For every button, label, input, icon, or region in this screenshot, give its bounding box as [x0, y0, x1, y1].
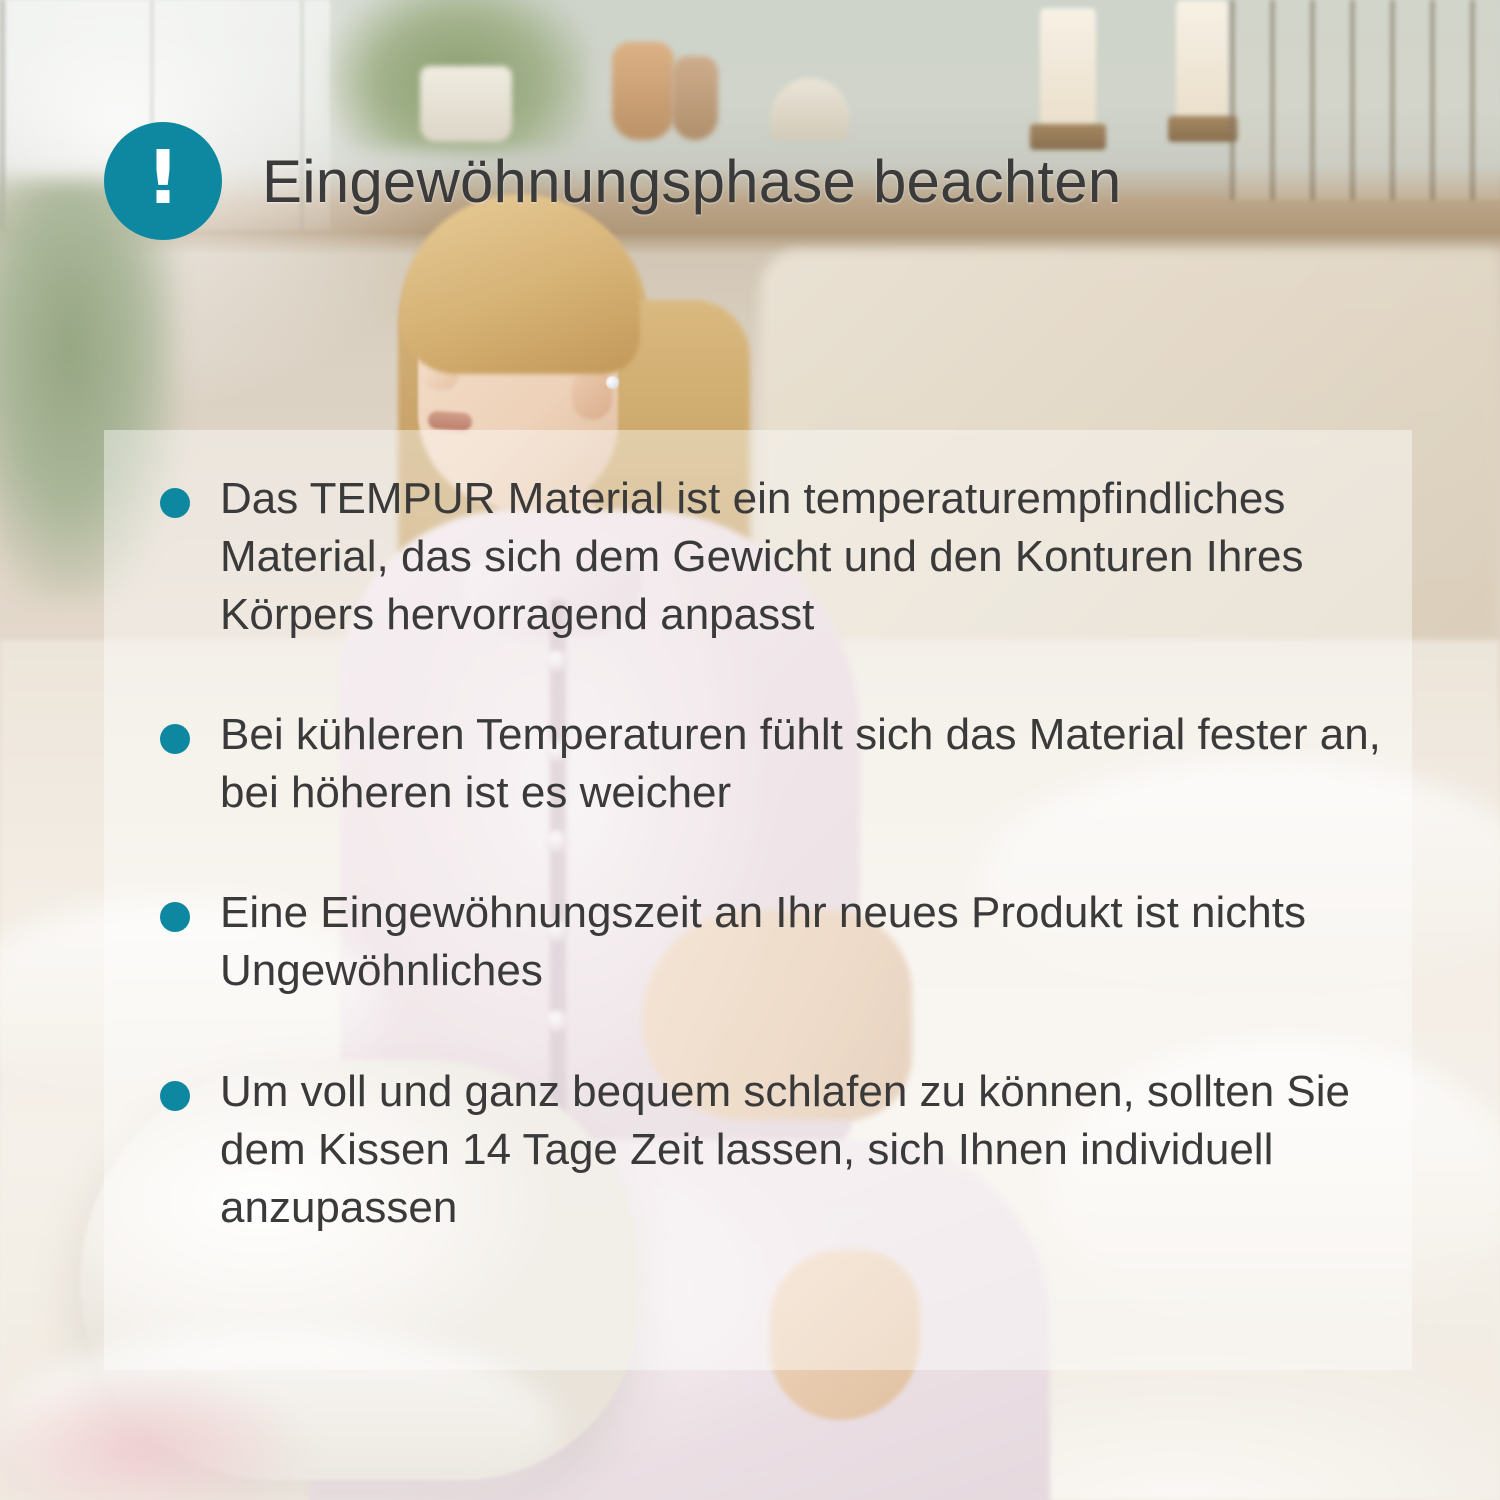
- list-item: Das TEMPUR Material ist ein temperaturem…: [160, 470, 1390, 644]
- bullet-dot-icon: [160, 724, 190, 754]
- product-info-poster: ! Eingewöhnungsphase beachten Das TEMPUR…: [0, 0, 1500, 1500]
- earring: [606, 376, 619, 389]
- exclamation-mark-icon: !: [104, 122, 222, 240]
- list-item: Bei kühleren Temperaturen fühlt sich das…: [160, 706, 1390, 822]
- list-item-label: Bei kühleren Temperaturen fühlt sich das…: [220, 706, 1390, 822]
- bullet-dot-icon: [160, 488, 190, 518]
- headboard-slats: [1230, 0, 1500, 200]
- list-item: Eine Eingewöhnungszeit an Ihr neues Prod…: [160, 884, 1390, 1000]
- candle-icon: [1040, 8, 1096, 128]
- list-item-label: Um voll und ganz bequem schlafen zu könn…: [220, 1063, 1390, 1237]
- bullet-dot-icon: [160, 1081, 190, 1111]
- exclamation-glyph: !: [146, 141, 180, 215]
- list-item: Um voll und ganz bequem schlafen zu könn…: [160, 1063, 1390, 1237]
- benefit-list: Das TEMPUR Material ist ein temperaturem…: [160, 470, 1390, 1237]
- ear: [572, 368, 612, 420]
- bullet-dot-icon: [160, 902, 190, 932]
- poster-header: ! Eingewöhnungsphase beachten: [104, 122, 1121, 240]
- list-item-label: Das TEMPUR Material ist ein temperaturem…: [220, 470, 1390, 644]
- lips: [427, 410, 472, 431]
- bedding-fold-pink: [0, 1370, 310, 1500]
- candle-icon: [1176, 0, 1228, 118]
- list-item-label: Eine Eingewöhnungszeit an Ihr neues Prod…: [220, 884, 1390, 1000]
- candle-holder: [1168, 116, 1238, 142]
- page-title: Eingewöhnungsphase beachten: [262, 147, 1121, 216]
